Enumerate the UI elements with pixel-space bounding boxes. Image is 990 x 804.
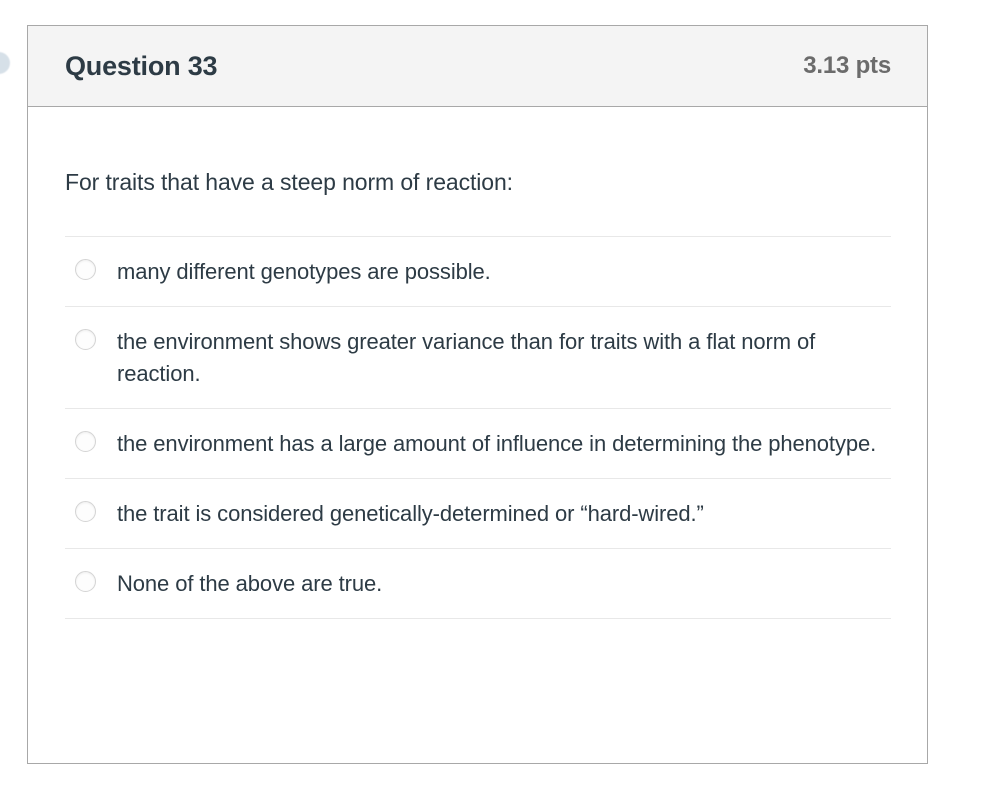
question-card: Question 33 3.13 pts For traits that hav… [27,25,928,764]
answer-option-3[interactable]: the environment has a large amount of in… [65,409,891,479]
question-prompt-text: For traits that have a steep norm of rea… [65,107,891,236]
question-points-badge: 3.13 pts [803,52,891,80]
answer-option-4[interactable]: the trait is considered genetically-dete… [65,479,891,549]
answer-option-5[interactable]: None of the above are true. [65,549,891,619]
question-header: Question 33 3.13 pts [28,26,927,107]
radio-button-icon[interactable] [75,431,96,452]
answer-option-label: the environment has a large amount of in… [117,428,876,459]
answer-option-label: many different genotypes are possible. [117,256,491,287]
radio-button-icon[interactable] [75,259,96,280]
answers-list: many different genotypes are possible. t… [65,236,891,619]
answer-option-label: the trait is considered genetically-dete… [117,498,704,529]
answer-option-label: None of the above are true. [117,568,382,599]
edge-marker-icon [0,52,10,74]
answer-option-label: the environment shows greater variance t… [117,326,877,388]
page-title: Question 33 [65,51,217,82]
answer-option-1[interactable]: many different genotypes are possible. [65,237,891,307]
question-body: For traits that have a steep norm of rea… [28,107,927,619]
radio-button-icon[interactable] [75,501,96,522]
answer-option-2[interactable]: the environment shows greater variance t… [65,307,891,408]
radio-button-icon[interactable] [75,329,96,350]
radio-button-icon[interactable] [75,571,96,592]
